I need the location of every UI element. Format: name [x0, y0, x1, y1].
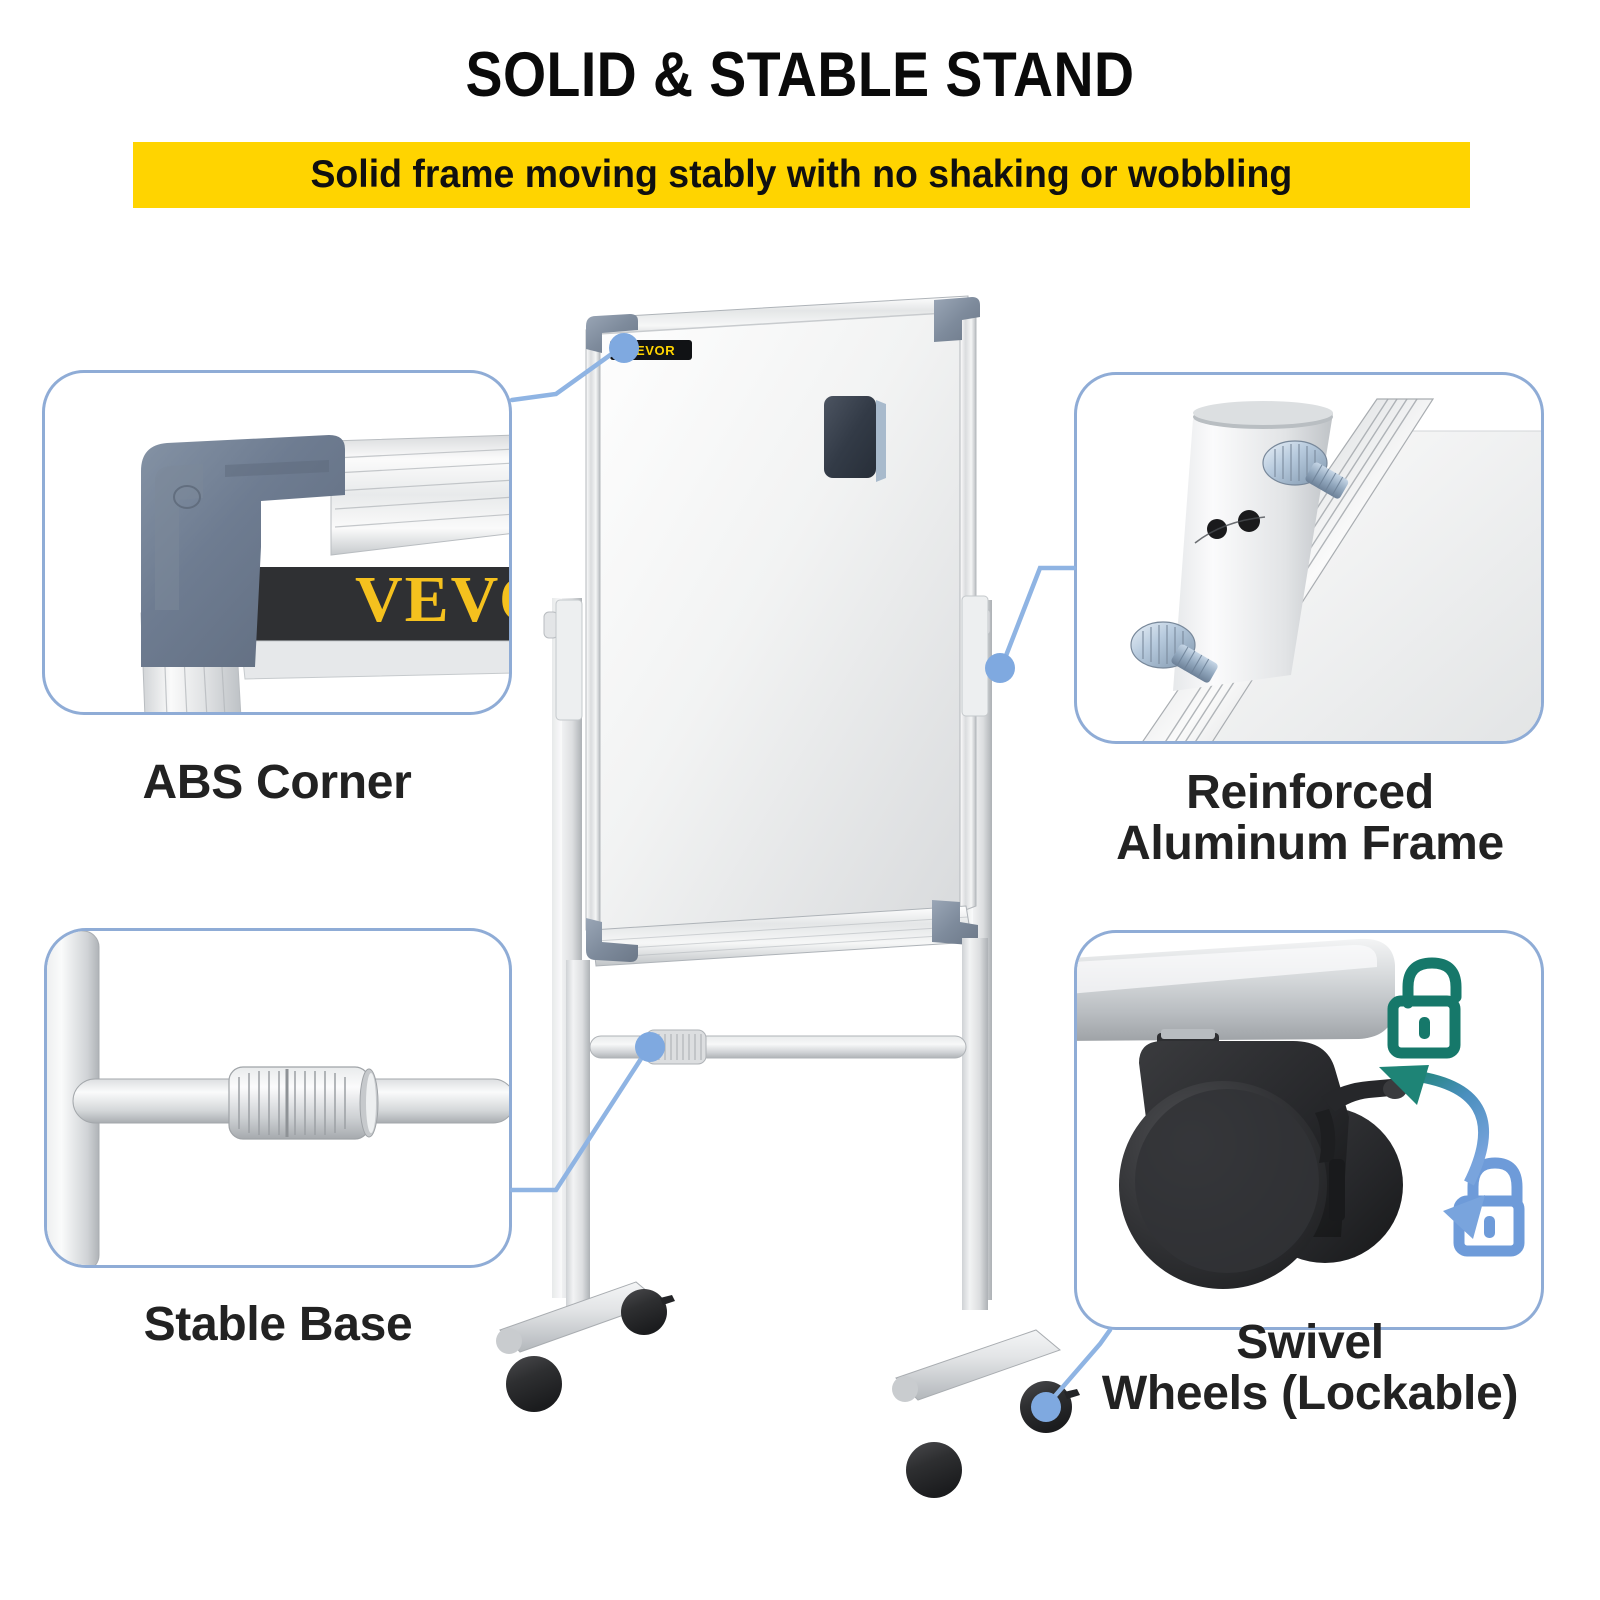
callout-abs-corner: VEVO: [42, 370, 512, 715]
magnetic-eraser: [824, 396, 886, 482]
base-leg-right: [892, 1330, 1060, 1402]
pivot-sleeve-left: [556, 600, 582, 720]
caption-line-1: Swivel: [1046, 1318, 1574, 1369]
connector-dot-stable-base: [635, 1032, 665, 1062]
caster-wheel-1: [621, 1289, 675, 1335]
caster-wheel-2: [506, 1356, 562, 1412]
lower-post-right: [962, 938, 988, 1310]
infographic-canvas: SOLID & STABLE STAND Solid frame moving …: [0, 0, 1600, 1600]
connector-aluminum-frame: [1002, 568, 1074, 666]
callout-swivel-wheels: [1074, 930, 1544, 1330]
pivot-knob-left: [544, 612, 558, 638]
pivot-knob-right: [974, 608, 990, 636]
subtitle-text: Solid frame moving stably with no shakin…: [311, 153, 1293, 197]
cross-bar: [590, 1030, 966, 1064]
abs-corner-top-left: [586, 314, 638, 353]
caption-abs-corner: ABS Corner: [42, 758, 512, 809]
unlock-icon: [1393, 963, 1456, 1053]
connector-dots: [609, 333, 1061, 1422]
vevor-logo-badge: VEVOR: [610, 340, 692, 360]
knurled-adjuster-collar-detail: [229, 1067, 378, 1139]
connector-stable-base: [512, 1048, 648, 1190]
subtitle-banner: Solid frame moving stably with no shakin…: [133, 142, 1470, 208]
whiteboard-panel-group: VEVOR: [586, 296, 980, 966]
connector-dot-abs-corner: [609, 333, 639, 363]
base-leg-detail: [1077, 939, 1395, 1041]
vevor-strip-text: VEVO: [355, 563, 512, 636]
vevor-logo-strip: VEVO: [249, 563, 512, 641]
base-leg-left: [496, 1282, 660, 1354]
left-upright-post: [552, 598, 582, 1298]
abs-corner-bottom-right: [932, 900, 978, 945]
caption-line-1: Reinforced: [1060, 768, 1560, 819]
abs-corner-bottom-left: [586, 918, 638, 962]
connector-abs-corner: [512, 348, 620, 400]
caption-swivel-wheels: Swivel Wheels (Lockable): [1046, 1318, 1574, 1420]
abs-corner-top-right: [934, 297, 980, 342]
caption-reinforced-aluminum-frame: Reinforced Aluminum Frame: [1060, 768, 1560, 870]
svg-text:VEVOR: VEVOR: [627, 343, 676, 358]
callout-stable-base: [44, 928, 512, 1268]
caption-line-2: Aluminum Frame: [1060, 819, 1560, 870]
knurled-adjuster-collar: [646, 1030, 706, 1064]
swivel-wheels-detail-art: [1077, 933, 1544, 1330]
aluminum-frame-detail-art: [1077, 375, 1544, 744]
callout-reinforced-aluminum-frame: [1074, 372, 1544, 744]
caption-line-2: Wheels (Lockable): [1046, 1369, 1574, 1420]
abs-corner-detail-art: VEVO: [45, 373, 512, 715]
caption-stable-base: Stable Base: [44, 1300, 512, 1351]
lower-post-left: [566, 960, 590, 1310]
connector-dot-aluminum-frame: [985, 653, 1015, 683]
page-title: SOLID & STABLE STAND: [96, 42, 1504, 108]
stable-base-detail-art: [47, 931, 512, 1268]
caster-wheel-4: [906, 1442, 962, 1498]
right-upright-post: [964, 600, 992, 1300]
pivot-sleeve-right: [962, 596, 988, 716]
